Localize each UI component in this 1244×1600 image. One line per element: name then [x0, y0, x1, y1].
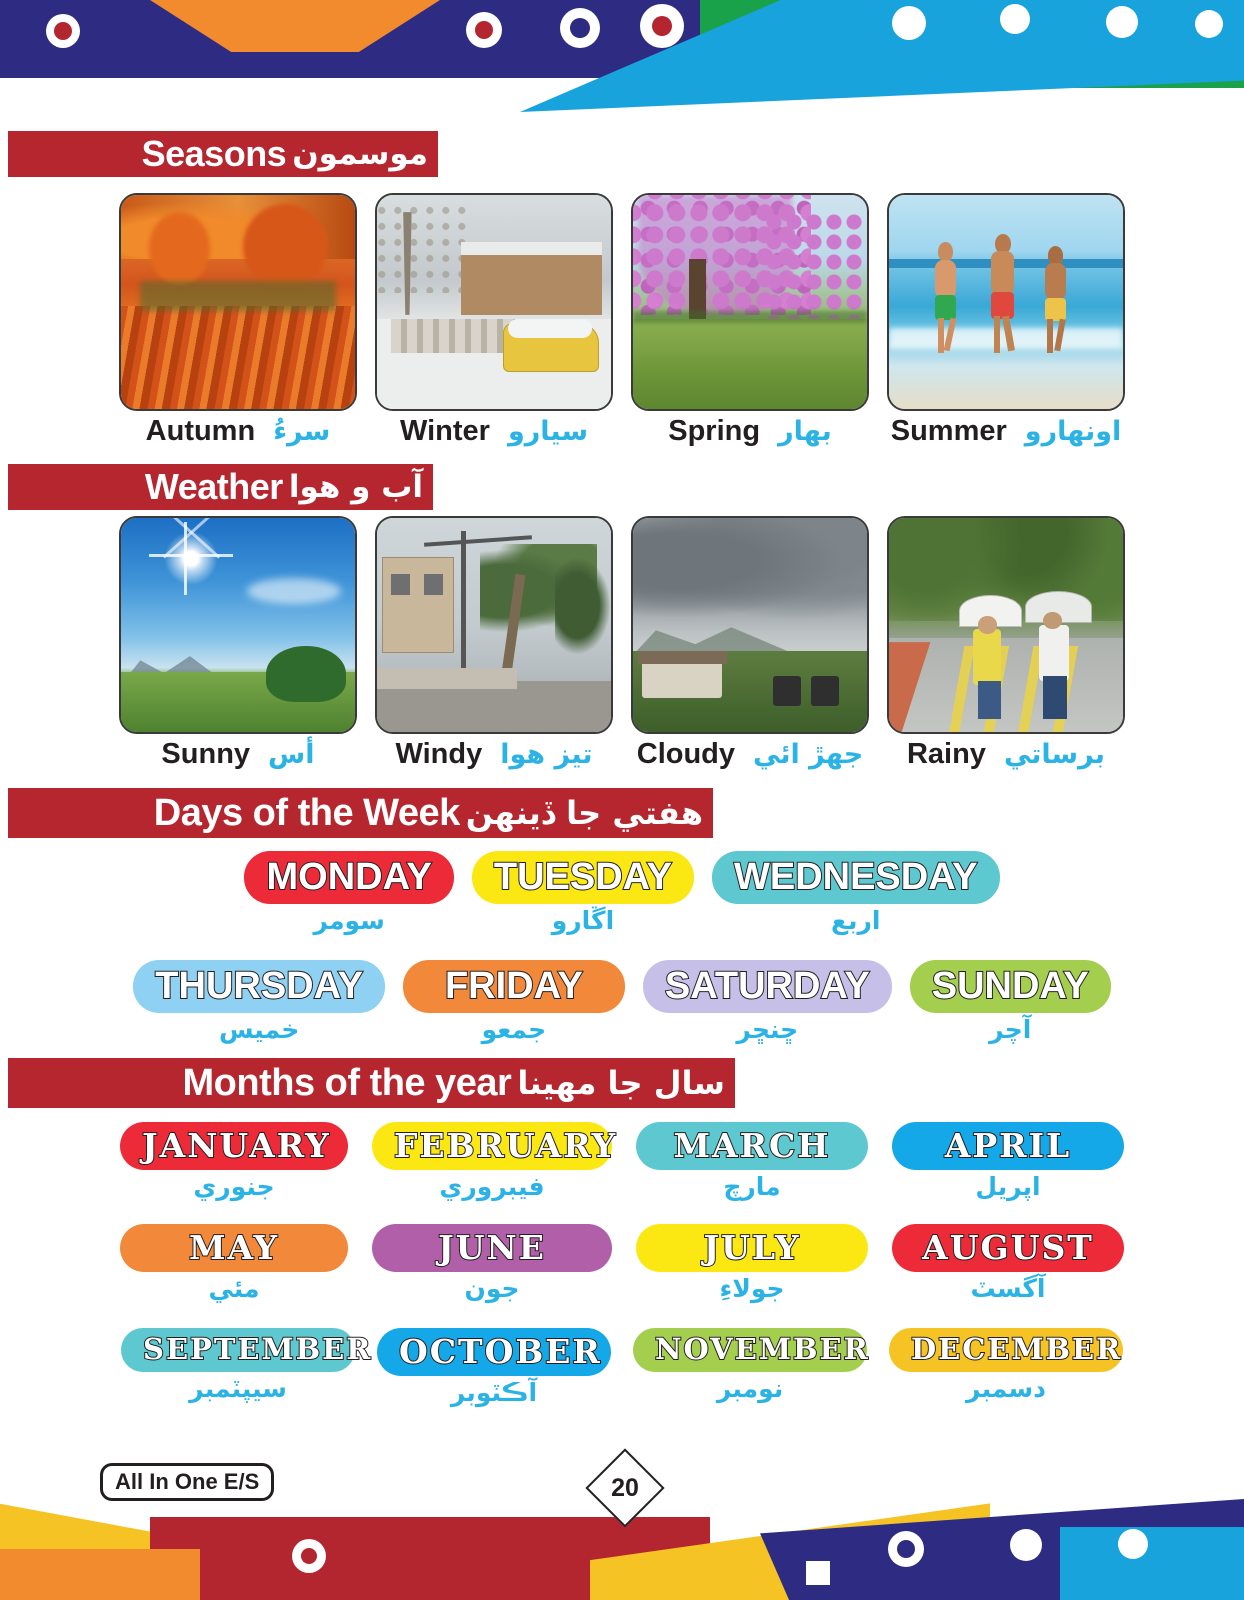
day-pill-friday[interactable]: FRIDAY [403, 960, 625, 1013]
section-title-en: Days of the Week [154, 794, 460, 832]
page-number: 20 [599, 1462, 651, 1514]
caption-spring: Spring بهار [622, 415, 878, 448]
section-header-seasons: Seasons موسمون [8, 131, 438, 177]
picture-cell-spring: Spring بهار [622, 193, 878, 448]
month-pill-december[interactable]: DECEMBER [889, 1328, 1123, 1372]
top-decorative-border [0, 0, 1244, 112]
caption-en: Sunny [161, 738, 250, 771]
month-cell-april: APRIL اپريل [892, 1122, 1124, 1201]
snow-covered-street-photo [375, 193, 613, 411]
month-cell-january: JANUARY جنوري [120, 1122, 348, 1201]
caption-windy: Windy تيز هوا [366, 738, 622, 771]
month-label: JUNE [438, 1230, 546, 1266]
section-title-ur: موسمون [292, 139, 428, 170]
month-cell-october: OCTOBER آڪٽوبر [377, 1328, 611, 1407]
month-label: SEPTEMBER [143, 1334, 372, 1366]
caption-en: Windy [396, 738, 483, 771]
day-label: WEDNESDAY [734, 857, 978, 898]
day-label-ur: سومر [244, 906, 453, 935]
picture-cell-winter: Winter سيارو [366, 193, 622, 448]
month-label: MARCH [673, 1128, 830, 1164]
motif-dot [652, 16, 672, 36]
month-label-ur: جولاءِ [636, 1274, 868, 1303]
day-pill-tuesday[interactable]: TUESDAY [472, 851, 694, 904]
motif-square [196, 86, 222, 112]
section-title-ur: سال جا مهينا [517, 1067, 725, 1099]
month-label-ur: آگسٽ [892, 1274, 1124, 1303]
section-title-ur: آب و هوا [289, 472, 423, 503]
motif-dot [897, 1540, 915, 1558]
section-title-en: Months of the year [183, 1064, 512, 1102]
section-header-months: Months of the year سال جا مهينا [8, 1058, 735, 1108]
motif-dot [570, 18, 590, 38]
month-cell-december: DECEMBER دسمبر [889, 1328, 1123, 1407]
month-label: JULY [703, 1230, 800, 1266]
month-label: JANUARY [142, 1128, 331, 1164]
months-row-1: JANUARY جنوري FEBRUARY فيبروري MARCH مار… [0, 1122, 1244, 1201]
motif-dot [301, 1548, 317, 1564]
month-label: OCTOBER [399, 1334, 602, 1370]
caption-summer: Summer اونهارو [878, 415, 1134, 448]
children-at-beach-photo [887, 193, 1125, 411]
month-pill-january[interactable]: JANUARY [120, 1122, 348, 1170]
day-label-ur: جمعو [403, 1015, 625, 1044]
day-label: MONDAY [266, 857, 431, 898]
motif-dot [1106, 6, 1138, 38]
month-pill-september[interactable]: SEPTEMBER [121, 1328, 355, 1372]
month-label-ur: آڪٽوبر [377, 1378, 611, 1407]
windy-palm-trees-photo [375, 516, 613, 734]
motif-square [806, 1561, 830, 1585]
picture-cell-windy: Windy تيز هوا [366, 516, 622, 771]
picture-cell-cloudy: Cloudy جهڙ ائي [622, 516, 878, 771]
month-label-ur: دسمبر [889, 1374, 1123, 1403]
picture-cell-rainy: Rainy برساتي [878, 516, 1134, 771]
caption-en: Summer [891, 415, 1007, 448]
caption-en: Rainy [907, 738, 986, 771]
blossom-tree-photo [631, 193, 869, 411]
months-row-3: SEPTEMBER سيپٽمبر OCTOBER آڪٽوبر NOVEMBE… [0, 1328, 1244, 1407]
month-pill-june[interactable]: JUNE [372, 1224, 612, 1272]
seasons-picture-row: Autumn سرءُ Winter سيارو [0, 193, 1244, 448]
caption-cloudy: Cloudy جهڙ ائي [622, 738, 878, 771]
day-label-ur: اڱارو [472, 906, 694, 935]
day-label: THURSDAY [155, 966, 363, 1007]
month-label-ur: فيبروري [372, 1172, 612, 1201]
month-pill-march[interactable]: MARCH [636, 1122, 868, 1170]
month-label-ur: اپريل [892, 1172, 1124, 1201]
motif-dot [1010, 1529, 1042, 1561]
day-cell-thursday: THURSDAY خميس [133, 960, 385, 1044]
overcast-hills-photo [631, 516, 869, 734]
day-label: SATURDAY [665, 966, 870, 1007]
section-header-weather: Weather آب و هوا [8, 464, 433, 510]
month-label: FEBRUARY [394, 1128, 617, 1164]
month-pill-february[interactable]: FEBRUARY [372, 1122, 612, 1170]
caption-ur: جهڙ ائي [753, 739, 863, 770]
month-label: AUGUST [922, 1230, 1094, 1266]
picture-cell-sunny: Sunny أس [110, 516, 366, 771]
caption-en: Spring [668, 415, 760, 448]
month-cell-july: JULY جولاءِ [636, 1224, 868, 1303]
day-pill-sunday[interactable]: SUNDAY [910, 960, 1111, 1013]
month-label: NOVEMBER [655, 1334, 870, 1366]
day-label: SUNDAY [932, 966, 1089, 1007]
caption-ur: تيز هوا [500, 739, 592, 770]
month-pill-may[interactable]: MAY [120, 1224, 348, 1272]
month-cell-may: MAY مئي [120, 1224, 348, 1303]
month-cell-november: NOVEMBER نومبر [633, 1328, 867, 1407]
month-label-ur: نومبر [633, 1374, 867, 1403]
section-header-days: Days of the Week هفتي جا ڏينهن [8, 788, 713, 838]
caption-en: Cloudy [637, 738, 735, 771]
month-cell-february: FEBRUARY فيبروري [372, 1122, 612, 1201]
autumn-leaves-photo [119, 193, 357, 411]
orange-band [0, 1549, 200, 1600]
day-label-ur: خميس [133, 1015, 385, 1044]
month-label-ur: جنوري [120, 1172, 348, 1201]
day-cell-tuesday: TUESDAY اڱارو [472, 851, 694, 935]
caption-ur: سيارو [508, 416, 588, 447]
sun-over-meadow-photo [119, 516, 357, 734]
days-row-1: MONDAY سومر TUESDAY اڱارو WEDNESDAY اربع [0, 851, 1244, 935]
day-pill-monday[interactable]: MONDAY [244, 851, 453, 904]
caption-winter: Winter سيارو [366, 415, 622, 448]
month-cell-march: MARCH مارچ [636, 1122, 868, 1201]
motif-dot [475, 21, 493, 39]
section-title-en: Seasons [142, 136, 287, 172]
month-cell-june: JUNE جون [372, 1224, 612, 1303]
caption-autumn: Autumn سرءُ [110, 415, 366, 448]
section-title-ur: هفتي جا ڏينهن [466, 797, 703, 829]
motif-dot [892, 6, 926, 40]
day-label-ur: آچر [910, 1015, 1111, 1044]
caption-en: Autumn [146, 415, 256, 448]
day-pill-thursday[interactable]: THURSDAY [133, 960, 385, 1013]
month-cell-august: AUGUST آگسٽ [892, 1224, 1124, 1303]
month-label: DECEMBER [911, 1334, 1122, 1366]
day-cell-sunday: SUNDAY آچر [910, 960, 1111, 1044]
days-row-2: THURSDAY خميس FRIDAY جمعو SATURDAY ڇنڇر … [0, 960, 1244, 1044]
worksheet-page: Seasons موسمون Autumn سرءُ [0, 0, 1244, 1600]
picture-cell-autumn: Autumn سرءُ [110, 193, 366, 448]
motif-dot [1000, 4, 1030, 34]
section-title-en: Weather [145, 469, 283, 505]
day-label: FRIDAY [445, 966, 583, 1007]
month-label-ur: مارچ [636, 1172, 868, 1201]
month-pill-july[interactable]: JULY [636, 1224, 868, 1272]
children-with-umbrellas-photo [887, 516, 1125, 734]
caption-ur: برساتي [1004, 739, 1105, 770]
weather-picture-row: Sunny أس Windy تيز هوا [0, 516, 1244, 771]
day-label-ur: اربع [712, 906, 1000, 935]
day-cell-friday: FRIDAY جمعو [403, 960, 625, 1044]
motif-dot [1195, 10, 1223, 38]
day-cell-monday: MONDAY سومر [244, 851, 453, 935]
month-pill-august[interactable]: AUGUST [892, 1224, 1124, 1272]
motif-dot [54, 22, 72, 40]
picture-cell-summer: Summer اونهارو [878, 193, 1134, 448]
month-label: APRIL [945, 1128, 1071, 1164]
month-pill-october[interactable]: OCTOBER [377, 1328, 611, 1376]
caption-ur: بهار [778, 416, 832, 447]
caption-ur: اونهارو [1025, 416, 1121, 447]
caption-en: Winter [400, 415, 490, 448]
month-label-ur: مئي [120, 1274, 348, 1303]
day-pill-wednesday[interactable]: WEDNESDAY [712, 851, 1000, 904]
month-label: MAY [189, 1230, 279, 1266]
day-label: TUESDAY [494, 857, 672, 898]
month-cell-september: SEPTEMBER سيپٽمبر [121, 1328, 355, 1407]
caption-sunny: Sunny أس [110, 738, 366, 771]
month-label-ur: سيپٽمبر [121, 1374, 355, 1403]
motif-dot [1118, 1529, 1148, 1559]
months-row-2: MAY مئي JUNE جون JULY جولاءِ AUGUST آگسٽ [0, 1224, 1244, 1303]
day-label-ur: ڇنڇر [643, 1015, 892, 1044]
day-cell-wednesday: WEDNESDAY اربع [712, 851, 1000, 935]
month-pill-november[interactable]: NOVEMBER [633, 1328, 867, 1372]
book-title-badge: All In One E/S [100, 1463, 274, 1501]
month-label-ur: جون [372, 1274, 612, 1303]
caption-ur: أس [268, 739, 315, 770]
caption-rainy: Rainy برساتي [878, 738, 1134, 771]
month-pill-april[interactable]: APRIL [892, 1122, 1124, 1170]
blue-band-bottom [1060, 1527, 1244, 1600]
day-pill-saturday[interactable]: SATURDAY [643, 960, 892, 1013]
caption-ur: سرءُ [273, 416, 330, 447]
day-cell-saturday: SATURDAY ڇنڇر [643, 960, 892, 1044]
